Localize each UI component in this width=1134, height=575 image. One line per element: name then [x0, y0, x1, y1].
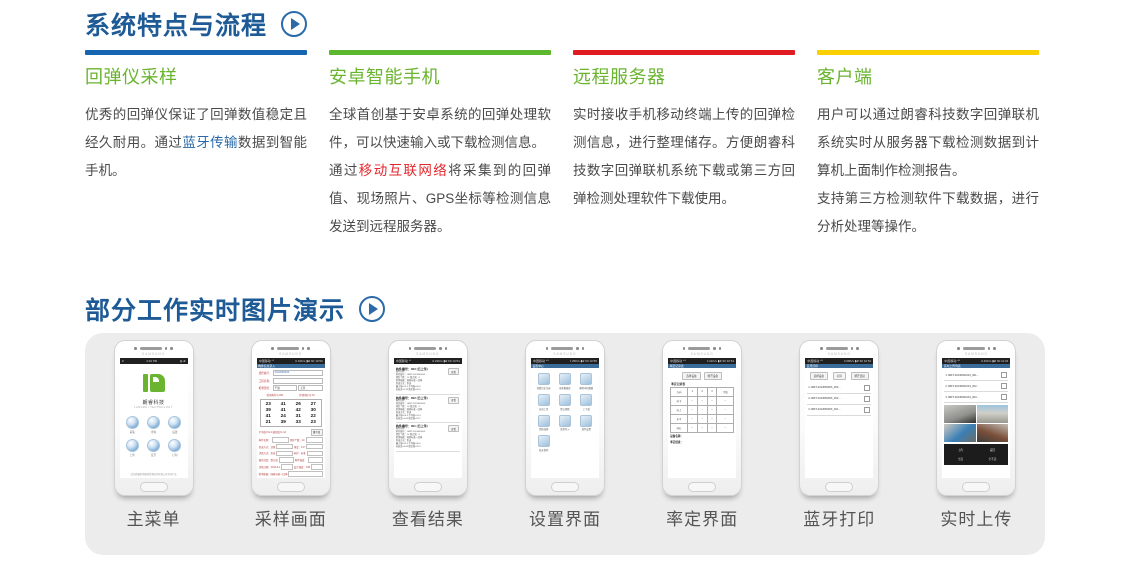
info-value[interactable] — [276, 444, 292, 450]
app-glyph-icon — [168, 416, 181, 429]
photo-thumbnail-grid — [944, 405, 1008, 442]
upload-action-上传[interactable]: 上传 — [944, 448, 976, 452]
table-cell[interactable]: -- — [717, 405, 734, 414]
feature-title: 安卓智能手机 — [329, 67, 551, 89]
led-dot-icon — [307, 347, 310, 350]
led-dot-icon — [445, 347, 448, 350]
result-line: 标准差=3.83 推定值=25.3 — [396, 446, 460, 449]
direction-cell: 向上 — [671, 405, 688, 414]
app-icon-采集[interactable]: 采集 — [126, 416, 139, 434]
settings-icon-label: 更多数据库 — [559, 386, 571, 390]
feature-text: 支持第三方检测软件下载数据，进行分析处理等操作。 — [817, 191, 1039, 234]
feature-accent-bar — [85, 50, 307, 55]
phone-device-results[interactable]: SAMSUNG中国移动 ⁴ᴳ0.23K/s ▮▰ 60 10:54构件编号：00… — [388, 340, 468, 496]
app-icon-上传[interactable]: 上传 — [126, 439, 139, 457]
phone-cell-sampling: SAMSUNG中国移动 ⁴ᴳ0.19K/s ▮▰ 60 10:53构件信息录入委… — [232, 340, 350, 530]
direction-cell: 向下 — [671, 396, 688, 405]
phone-caption: 采样画面 — [255, 505, 327, 530]
app-icon-label: 采集 — [130, 430, 135, 434]
table-cell[interactable]: -- — [687, 423, 697, 432]
settings-glyph-icon — [559, 415, 571, 427]
result-line: 标准差=4.39 推定值=25.6 — [396, 389, 460, 392]
column-header: 检测构件号-001 — [267, 393, 284, 397]
info-value[interactable] — [307, 451, 323, 457]
play-circle-icon[interactable] — [281, 11, 307, 37]
camera-dot-icon — [988, 347, 991, 350]
inline-link[interactable]: 蓝牙传输 — [182, 135, 238, 150]
feature-paragraph: 优秀的回弹仪保证了回弹数值稳定且经久耐用。通过蓝牙传输数据到智能手机。 — [85, 101, 307, 185]
earpiece-speaker — [277, 347, 299, 350]
rebound-value: 39 — [276, 419, 291, 425]
app-glyph-icon — [147, 416, 160, 429]
led-dot-icon — [582, 347, 585, 350]
print-list-item[interactable]: 3 JMFT-201305000X_001... — [807, 405, 871, 416]
phone-device-settings[interactable]: SAMSUNG中国移动 ⁴ᴳ0.25K/s ▮▰ 60 10:55设置中心查看历… — [525, 340, 605, 496]
feature-body: 实时接收手机移动终端上传的回弹检测信息，进行整理储存。方便朗睿科技数字回弹联机系… — [573, 101, 795, 213]
phone-screen-calibration: 中国移动 ⁴ᴳ0.21K/s ▮▰ 60 10:51率定记录表选择设备断开设备率… — [668, 358, 736, 478]
phone-device-main-menu[interactable]: SAMSUNGıll4:20 PM◍ ▰朗睿科技LANGRUI TECHNOLO… — [114, 340, 194, 496]
field-label: 委托编号： — [259, 371, 272, 375]
app-icon-label: 上传 — [130, 453, 135, 457]
direction-cell: 水平 — [671, 414, 688, 423]
settings-icon-默认参数[interactable]: 默认参数 — [554, 394, 575, 411]
phone-caption: 查看结果 — [392, 505, 464, 530]
table-row: 向下-------- — [671, 396, 734, 405]
sensor-dot-icon — [409, 347, 412, 350]
settings-icon-label: 测区曲线 — [539, 427, 548, 431]
result-item[interactable]: 构件编号：002 (已上传)构件名称：委托编号：JMFT-201305000X测… — [396, 395, 460, 424]
form-field: 工程名称： — [259, 378, 323, 384]
settings-icon-测区曲线[interactable]: 测区曲线 — [533, 415, 554, 432]
select-row: 检测部位：干燥无风 — [259, 385, 323, 391]
feature-accent-bar — [817, 50, 1039, 55]
column-headers: 检测构件号-001检测测区号-01 — [259, 393, 323, 397]
earpiece-speaker — [688, 347, 710, 350]
app-glyph-icon — [147, 439, 160, 452]
settings-glyph-icon — [580, 373, 592, 385]
table-header-cell: 2 — [697, 387, 707, 396]
upload-item-checkbox[interactable] — [1001, 372, 1007, 378]
sensor-dot-icon — [683, 347, 686, 350]
inline-link[interactable]: 移动互联网络 — [359, 163, 448, 178]
feature-column-rebound-sampling: 回弹仪采样 优秀的回弹仪保证了回弹数值稳定且经久耐用。通过蓝牙传输数据到智能手机… — [85, 50, 307, 241]
info-row: 构件名称：测区个数：10 — [259, 437, 323, 443]
settings-icon-label: 查看历史记录 — [537, 386, 551, 390]
feature-column-android-phone: 安卓智能手机 全球首创基于安卓系统的回弹处理软件，可以快速输入或下载检测信息。通… — [329, 50, 551, 241]
settings-icon-grid: 查看历史记录更多数据库删除本机数据自动上传默认参数上下载测区曲线修复导入软件设置… — [533, 370, 597, 452]
earpiece-speaker — [963, 347, 985, 350]
calibration-button[interactable]: 断开设备 — [704, 372, 722, 380]
settings-glyph-icon — [538, 415, 550, 427]
table-cell[interactable]: -- — [697, 414, 707, 423]
info-value[interactable] — [288, 471, 322, 477]
app-icon-label: 打印 — [172, 453, 177, 457]
feature-paragraph: 实时接收手机移动终端上传的回弹检测信息，进行整理储存。方便朗睿科技数字回弹联机系… — [573, 101, 795, 213]
app-glyph-icon — [126, 416, 139, 429]
print-item-label: 2 JMFT-201305000X_002... — [808, 397, 840, 400]
sensor-dot-icon — [820, 347, 823, 350]
feature-column-client: 客户端 用户可以通过朗睿科技数字回弹联机系统实时从服务器下载检测数据到计算机上面… — [817, 50, 1039, 241]
phone-screen-results: 中国移动 ⁴ᴳ0.23K/s ▮▰ 60 10:54构件编号：003 (已上传)… — [394, 358, 462, 478]
table-cell[interactable]: -- — [697, 423, 707, 432]
camera-dot-icon — [576, 347, 579, 350]
info-value[interactable] — [306, 444, 322, 450]
info-label: 检测依据：国家标准一回弹 — [259, 472, 288, 476]
table-cell[interactable]: -- — [717, 396, 734, 405]
table-cell[interactable]: -- — [717, 423, 734, 432]
info-value[interactable] — [279, 457, 294, 463]
phone-brand-label: SAMSUNG — [252, 352, 330, 356]
feature-paragraph: 通过移动互联网络将采集到的回弹值、现场照片、GPS坐标等检测信息发送到远程服务器… — [329, 157, 551, 241]
phone-caption: 率定界面 — [666, 505, 738, 530]
rebound-number-grid: 23412627394142304124312221393323 — [260, 399, 322, 427]
feature-title: 远程服务器 — [573, 67, 795, 89]
feature-body: 全球首创基于安卓系统的回弹处理软件，可以快速输入或下载检测信息。通过移动互联网络… — [329, 101, 551, 241]
settings-icon-软件设置[interactable]: 软件设置 — [576, 415, 597, 432]
features-heading-text: 系统特点与流程 — [85, 6, 267, 42]
settings-glyph-icon — [538, 373, 550, 385]
calibration-table-title: 率定记录表 — [671, 382, 734, 386]
home-button[interactable] — [688, 482, 716, 492]
table-row: 向上-------- — [671, 405, 734, 414]
settings-icon-label: 默认参数 — [560, 407, 569, 411]
feature-paragraph: 支持第三方检测软件下载数据，进行分析处理等操作。 — [817, 185, 1039, 241]
table-cell[interactable]: -- — [687, 396, 697, 405]
settings-icon-label: 蓝牙搜索 — [539, 448, 548, 452]
screen-content: 朗睿科技LANGRUI TECHNOLOGY采集查询设置上传蓝牙打印武汉朗睿思得… — [120, 364, 188, 478]
settings-glyph-icon — [580, 394, 592, 406]
settings-glyph-icon — [538, 435, 550, 447]
feature-body: 用户可以通过朗睿科技数字回弹联机系统实时从服务器下载检测数据到计算机上面制作检测… — [817, 101, 1039, 241]
info-value[interactable] — [281, 464, 293, 470]
info-row: 泵送方式：浇筑角度：0.0° — [259, 444, 323, 450]
print-item-checkbox[interactable] — [864, 407, 870, 413]
phone-brand-label: SAMSUNG — [800, 352, 878, 356]
settings-icon-label: 上下载 — [583, 407, 590, 411]
info-row: 检测依据：国家标准一回弹 — [259, 471, 323, 477]
settings-icon-更多数据库[interactable]: 更多数据库 — [554, 373, 575, 390]
table-cell[interactable]: -- — [697, 396, 707, 405]
photo-test-point-thumbnail[interactable] — [977, 424, 1009, 442]
print-buttons: 选择设备打印断开连接 — [807, 372, 871, 380]
feature-title: 客户端 — [817, 67, 1039, 89]
settings-icon-自动上传[interactable]: 自动上传 — [533, 394, 554, 411]
feature-paragraph: 全球首创基于安卓系统的回弹处理软件，可以快速输入或下载检测信息。 — [329, 101, 551, 157]
info-row: 浇筑方式：泵送养护：标准 — [259, 451, 323, 457]
print-button[interactable]: 选择设备 — [810, 372, 828, 380]
feature-accent-bar — [573, 50, 795, 55]
app-glyph-icon — [168, 439, 181, 452]
photo-rebound-hammer-thumbnail[interactable] — [944, 405, 976, 423]
camera-dot-icon — [302, 347, 305, 350]
app-icon-label: 查询 — [151, 430, 156, 434]
print-list-item[interactable]: 2 JMFT-201305000X_002... — [807, 394, 871, 405]
photo-building-thumbnail[interactable] — [977, 405, 1009, 423]
feature-column-remote-server: 远程服务器 实时接收手机移动终端上传的回弹检测信息，进行整理储存。方便朗睿科技数… — [573, 50, 795, 241]
info-label: 构件名称： — [259, 438, 271, 442]
feature-text: 全球首创基于安卓系统的回弹处理软件，可以快速输入或下载检测信息。 — [329, 107, 551, 150]
phone-cell-settings: SAMSUNG中国移动 ⁴ᴳ0.25K/s ▮▰ 60 10:55设置中心查看历… — [506, 340, 624, 530]
form-field: 委托编号：201305000X — [259, 370, 323, 376]
sensor-dot-icon — [957, 347, 960, 350]
upload-item-label: 2 JMFT-20130601001_002... — [945, 385, 978, 388]
info-row: 碳化深度：默认值构件强度： — [259, 457, 323, 463]
settings-icon-label: 修复导入 — [560, 427, 569, 431]
table-row: 水平-------- — [671, 414, 734, 423]
info-label: 养护：标准 — [294, 451, 306, 455]
settings-glyph-icon — [580, 415, 592, 427]
calibration-table: 方向123平值向下--------向上--------水平--------向左-… — [670, 387, 734, 433]
rewrite-button[interactable]: 重写值 — [311, 429, 323, 436]
table-cell[interactable]: -- — [687, 414, 697, 423]
feature-text: 实时接收手机移动终端上传的回弹检测信息，进行整理储存。方便朗睿科技数字回弹联机系… — [573, 107, 795, 206]
info-label: 泵送方式：浇筑 — [259, 445, 276, 449]
phone-screenshot-row: SAMSUNGıll4:20 PM◍ ▰朗睿科技LANGRUI TECHNOLO… — [85, 340, 1045, 555]
company-footnote: 武汉朗睿思得建筑检测技术有限公司系列产品 — [122, 472, 186, 476]
screen-content: 选择设备断开设备率定记录表方向123平值向下--------向上--------… — [668, 368, 736, 478]
earpiece-speaker — [140, 347, 162, 350]
phone-cell-calibration: SAMSUNG中国移动 ⁴ᴳ0.21K/s ▮▰ 60 10:51率定记录表选择… — [643, 340, 761, 530]
play-circle-icon[interactable] — [359, 296, 385, 322]
info-label: 构件强度： — [295, 458, 307, 462]
info-value[interactable] — [276, 451, 292, 457]
home-button[interactable] — [825, 482, 853, 492]
app-icon-label: 蓝牙 — [151, 453, 156, 457]
upload-list-item[interactable]: 2 JMFT-20130601001_002... — [944, 381, 1008, 392]
table-header-cell: 平值 — [717, 387, 734, 396]
camera-dot-icon — [851, 347, 854, 350]
field-label: 工程名称： — [259, 379, 272, 383]
logo-chinese-name: 朗睿科技 — [122, 399, 186, 406]
table-header-cell: 1 — [687, 387, 697, 396]
settings-icon-蓝牙搜索[interactable]: 蓝牙搜索 — [533, 435, 554, 452]
phone-cell-main-menu: SAMSUNGıll4:20 PM◍ ▰朗睿科技LANGRUI TECHNOLO… — [95, 340, 213, 530]
home-button[interactable] — [140, 482, 168, 492]
select-label: 检测部位： — [259, 386, 272, 390]
settings-icon-修复导入[interactable]: 修复导入 — [554, 415, 575, 432]
calibration-footer: 率定结省： — [670, 440, 734, 444]
app-icon-查询[interactable]: 查询 — [147, 416, 160, 434]
column-header: 检测测区号-01 — [299, 393, 314, 397]
summary-row: 平均值=31.4 碳化值=1.42重写值 — [259, 429, 323, 436]
table-cell[interactable]: -- — [697, 405, 707, 414]
info-label: 浇筑日期：2013-6-1 — [259, 465, 281, 469]
feature-title: 回弹仪采样 — [85, 67, 307, 89]
calibration-button[interactable]: 选择设备 — [682, 372, 700, 380]
home-button[interactable] — [962, 482, 990, 492]
info-label: 测区个数：10 — [290, 438, 305, 442]
phone-brand-label: SAMSUNG — [663, 352, 741, 356]
view-button[interactable]: 查看 — [448, 368, 459, 375]
upload-item-label: 1 JMFT-20130601001_001... — [945, 374, 978, 377]
app-icon-label: 设置 — [172, 430, 177, 434]
phone-cell-upload: SAMSUNG中国移动 ⁴ᴳ0.40K/s ▮▰ 60 11:04实时上传列表1… — [917, 340, 1035, 530]
settings-glyph-icon — [559, 394, 571, 406]
sensor-dot-icon — [546, 347, 549, 350]
table-cell[interactable]: -- — [707, 405, 717, 414]
sensor-dot-icon — [134, 347, 137, 350]
phone-caption: 实时上传 — [940, 505, 1012, 530]
camera-dot-icon — [439, 347, 442, 350]
earpiece-speaker — [414, 347, 436, 350]
info-row: 浇筑日期：2013-6-1设计强度：C30 — [259, 464, 323, 470]
phone-device-calibration[interactable]: SAMSUNG中国移动 ⁴ᴳ0.21K/s ▮▰ 60 10:51率定记录表选择… — [662, 340, 742, 496]
print-list-item[interactable]: 1 JMFT-201305000X_003... — [807, 383, 871, 394]
view-button[interactable]: 查看 — [448, 425, 459, 432]
view-button[interactable]: 查看 — [448, 397, 459, 404]
info-value[interactable] — [308, 457, 323, 463]
upload-item-label: 3 JMFT-20130601001_003... — [945, 396, 978, 399]
settings-glyph-icon — [538, 394, 550, 406]
phone-screen-main-menu: ıll4:20 PM◍ ▰朗睿科技LANGRUI TECHNOLOGY采集查询设… — [120, 358, 188, 478]
phone-caption: 主菜单 — [127, 505, 181, 530]
upload-action-全选[interactable]: 全选 — [944, 457, 976, 461]
select-input[interactable]: 无风 — [298, 385, 323, 391]
led-dot-icon — [170, 347, 173, 350]
logo-cut — [153, 377, 159, 382]
app-icon-设置[interactable]: 设置 — [168, 416, 181, 434]
feature-paragraph: 用户可以通过朗睿科技数字回弹联机系统实时从服务器下载检测数据到计算机上面制作检测… — [817, 101, 1039, 185]
logo-english-name: LANGRUI TECHNOLOGY — [122, 406, 186, 409]
upload-item-checkbox[interactable] — [1001, 394, 1007, 400]
print-item-checkbox[interactable] — [864, 396, 870, 402]
phone-caption: 设置界面 — [529, 505, 601, 530]
feature-accent-bar — [329, 50, 551, 55]
app-icon-grid: 采集查询设置上传蓝牙打印 — [122, 416, 186, 457]
gallery-section-heading: 部分工作实时图片演示 — [85, 291, 385, 327]
gallery-heading-text: 部分工作实时图片演示 — [85, 291, 345, 327]
logo-bar — [143, 374, 148, 392]
upload-action-全不选[interactable]: 全不选 — [976, 457, 1008, 461]
screen-content: 委托编号：201305000X工程名称：检测部位：干燥无风检测构件号-001检测… — [257, 368, 325, 478]
sensor-dot-icon — [271, 347, 274, 350]
settings-icon-上下载[interactable]: 上下载 — [576, 394, 597, 411]
screen-content: 构件编号：003 (已上传)构件名称：委托编号：JMFT-201305000X测… — [394, 364, 462, 478]
field-input[interactable] — [273, 378, 323, 384]
app-logo: 朗睿科技LANGRUI TECHNOLOGY — [122, 374, 186, 409]
info-label: 角度：0.0° — [294, 445, 305, 449]
rebound-value: 21 — [261, 419, 276, 425]
print-button[interactable]: 打印 — [833, 372, 846, 380]
settings-glyph-icon — [559, 373, 571, 385]
camera-dot-icon — [713, 347, 716, 350]
print-item-checkbox[interactable] — [864, 385, 870, 391]
phone-brand-label: SAMSUNG — [937, 352, 1015, 356]
result-item[interactable]: 构件编号：003 (已上传)构件名称：委托编号：JMFT-201305000X测… — [396, 366, 460, 395]
upload-list-item[interactable]: 1 JMFT-20130601001_001... — [944, 370, 1008, 381]
settings-icon-查看历史记录[interactable]: 查看历史记录 — [533, 373, 554, 390]
led-dot-icon — [719, 347, 722, 350]
table-cell[interactable]: -- — [707, 414, 717, 423]
screen-content: 查看历史记录更多数据库删除本机数据自动上传默认参数上下载测区曲线修复导入软件设置… — [531, 368, 599, 478]
app-icon-打印[interactable]: 打印 — [168, 439, 181, 457]
select-input[interactable]: 干燥 — [273, 385, 298, 391]
upload-item-checkbox[interactable] — [1001, 383, 1007, 389]
info-label: 设计强度：C30 — [294, 465, 310, 469]
field-input[interactable]: 201305000X — [273, 370, 323, 376]
phone-screen-sampling: 中国移动 ⁴ᴳ0.19K/s ▮▰ 60 10:53构件信息录入委托编号：201… — [257, 358, 325, 478]
table-header-cell: 方向 — [671, 387, 688, 396]
settings-icon-label: 自动上传 — [539, 407, 548, 411]
phone-caption: 蓝牙打印 — [803, 505, 875, 530]
home-button[interactable] — [414, 482, 442, 492]
app-glyph-icon — [126, 439, 139, 452]
result-line: 标准差=4.69 推定值=23.7 — [396, 418, 460, 421]
feature-text: 通过 — [329, 163, 359, 178]
app-icon-蓝牙[interactable]: 蓝牙 — [147, 439, 160, 457]
camera-dot-icon — [165, 347, 168, 350]
calibration-footer: 设备名称： — [670, 434, 734, 438]
phone-device-print[interactable]: SAMSUNG中国移动 ⁴ᴳ0.08K/s ▮▰ 60 10:52蓝牙打印选择设… — [799, 340, 879, 496]
home-button[interactable] — [551, 482, 579, 492]
phone-device-sampling[interactable]: SAMSUNG中国移动 ⁴ᴳ0.19K/s ▮▰ 60 10:53构件信息录入委… — [251, 340, 331, 496]
phone-brand-label: SAMSUNG — [526, 352, 604, 356]
earpiece-speaker — [551, 347, 573, 350]
info-value[interactable] — [311, 464, 323, 470]
phone-brand-label: SAMSUNG — [115, 352, 193, 356]
info-label: 浇筑方式：泵送 — [259, 451, 276, 455]
table-header-row: 方向123平值 — [671, 387, 734, 396]
table-cell[interactable]: -- — [707, 423, 717, 432]
phone-screen-upload: 中国移动 ⁴ᴳ0.40K/s ▮▰ 60 11:04实时上传列表1 JMFT-2… — [942, 358, 1010, 478]
phone-device-upload[interactable]: SAMSUNG中国移动 ⁴ᴳ0.40K/s ▮▰ 60 11:04实时上传列表1… — [936, 340, 1016, 496]
led-dot-icon — [993, 347, 996, 350]
upload-list-item[interactable]: 3 JMFT-20130601001_003... — [944, 392, 1008, 403]
phone-screen-print: 中国移动 ⁴ᴳ0.08K/s ▮▰ 60 10:52蓝牙打印选择设备打印断开连接… — [805, 358, 873, 478]
summary-text: 平均值=31.4 碳化值=1.42 — [259, 430, 286, 434]
settings-icon-label: 软件设置 — [582, 427, 591, 431]
phone-screen-settings: 中国移动 ⁴ᴳ0.25K/s ▮▰ 60 10:55设置中心查看历史记录更多数据… — [531, 358, 599, 478]
table-cell[interactable]: -- — [707, 396, 717, 405]
calibration-buttons: 选择设备断开设备 — [670, 372, 734, 380]
settings-icon-label: 删除本机数据 — [579, 386, 593, 390]
rebound-value: 23 — [306, 419, 321, 425]
table-cell[interactable]: -- — [717, 414, 734, 423]
result-item[interactable]: 构件编号：001 (已上传)构件名称：委托编号：JMFT-201305000X测… — [396, 423, 460, 452]
feature-columns: 回弹仪采样 优秀的回弹仪保证了回弹数值稳定且经久耐用。通过蓝牙传输数据到智能手机… — [85, 50, 1049, 241]
table-header-cell: 3 — [707, 387, 717, 396]
print-button[interactable]: 断开连接 — [851, 372, 869, 380]
earpiece-speaker — [826, 347, 848, 350]
upload-action-返回[interactable]: 返回 — [976, 448, 1008, 452]
upload-action-bar: 上传返回全选全不选 — [944, 444, 1008, 465]
photo-worker-thumbnail[interactable] — [944, 424, 976, 442]
print-item-label: 3 JMFT-201305000X_001... — [808, 408, 840, 411]
phone-cell-results: SAMSUNG中国移动 ⁴ᴳ0.23K/s ▮▰ 60 10:54构件编号：00… — [369, 340, 487, 530]
table-row: 向左-------- — [671, 423, 734, 432]
rebound-value: 33 — [291, 419, 306, 425]
brand-logo-icon — [143, 374, 165, 392]
settings-icon-删除本机数据[interactable]: 删除本机数据 — [576, 373, 597, 390]
table-cell[interactable]: -- — [687, 405, 697, 414]
led-dot-icon — [856, 347, 859, 350]
info-label: 碳化深度：默认值 — [259, 458, 278, 462]
home-button[interactable] — [277, 482, 305, 492]
feature-body: 优秀的回弹仪保证了回弹数值稳定且经久耐用。通过蓝牙传输数据到智能手机。 — [85, 101, 307, 185]
screen-content: 选择设备打印断开连接1 JMFT-201305000X_003...2 JMFT… — [805, 368, 873, 478]
phone-cell-print: SAMSUNG中国移动 ⁴ᴳ0.08K/s ▮▰ 60 10:52蓝牙打印选择设… — [780, 340, 898, 530]
phone-brand-label: SAMSUNG — [389, 352, 467, 356]
feature-text: 用户可以通过朗睿科技数字回弹联机系统实时从服务器下载检测数据到计算机上面制作检测… — [817, 107, 1039, 178]
screen-content: 1 JMFT-20130601001_001...2 JMFT-20130601… — [942, 368, 1010, 478]
direction-cell: 向左 — [671, 423, 688, 432]
info-value[interactable] — [272, 437, 289, 443]
print-item-label: 1 JMFT-201305000X_003... — [808, 386, 840, 389]
info-value[interactable] — [306, 437, 323, 443]
features-section-heading: 系统特点与流程 — [85, 6, 307, 42]
